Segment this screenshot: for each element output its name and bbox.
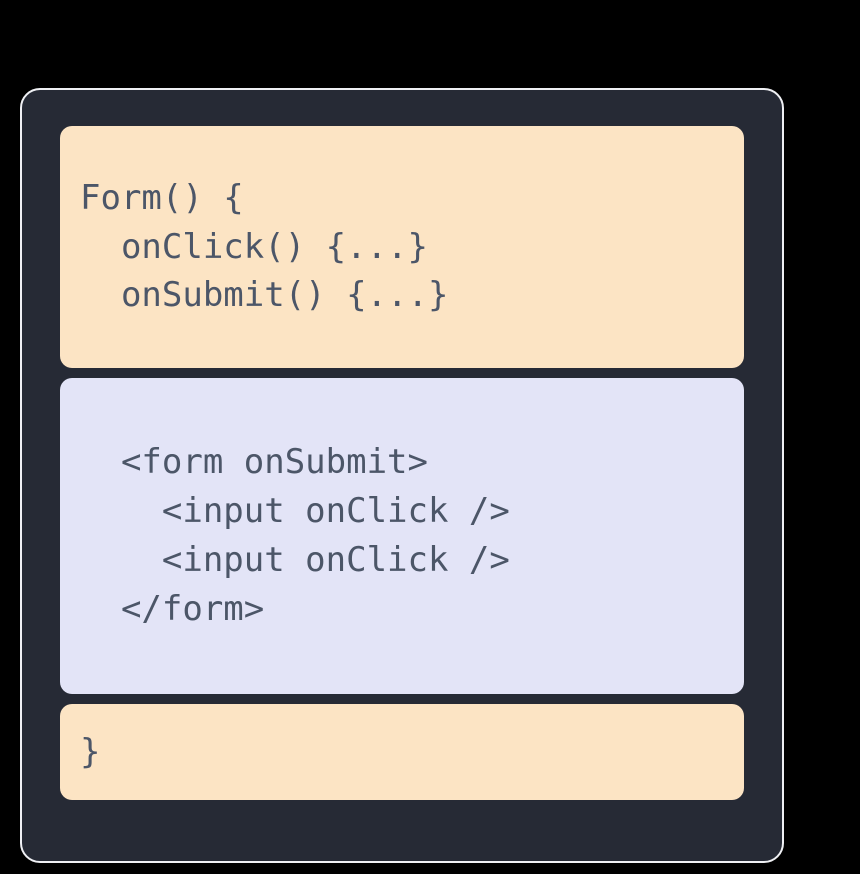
code-line: </form> bbox=[80, 585, 724, 634]
code-line: onClick() {...} bbox=[80, 223, 724, 272]
code-line: } bbox=[80, 728, 724, 777]
code-line: onSubmit() {...} bbox=[80, 271, 724, 320]
code-panel-component-methods: Form() { onClick() {...} onSubmit() {...… bbox=[60, 126, 744, 368]
code-line: Form() { bbox=[80, 174, 724, 223]
screenshot-stage: Form() { onClick() {...} onSubmit() {...… bbox=[0, 0, 860, 874]
code-card: Form() { onClick() {...} onSubmit() {...… bbox=[20, 88, 784, 863]
code-panel-closing: } bbox=[60, 704, 744, 800]
code-line: <input onClick /> bbox=[80, 487, 724, 536]
code-line: <input onClick /> bbox=[80, 536, 724, 585]
code-line: <form onSubmit> bbox=[80, 438, 724, 487]
code-panel-markup: <form onSubmit> <input onClick /> <input… bbox=[60, 378, 744, 694]
